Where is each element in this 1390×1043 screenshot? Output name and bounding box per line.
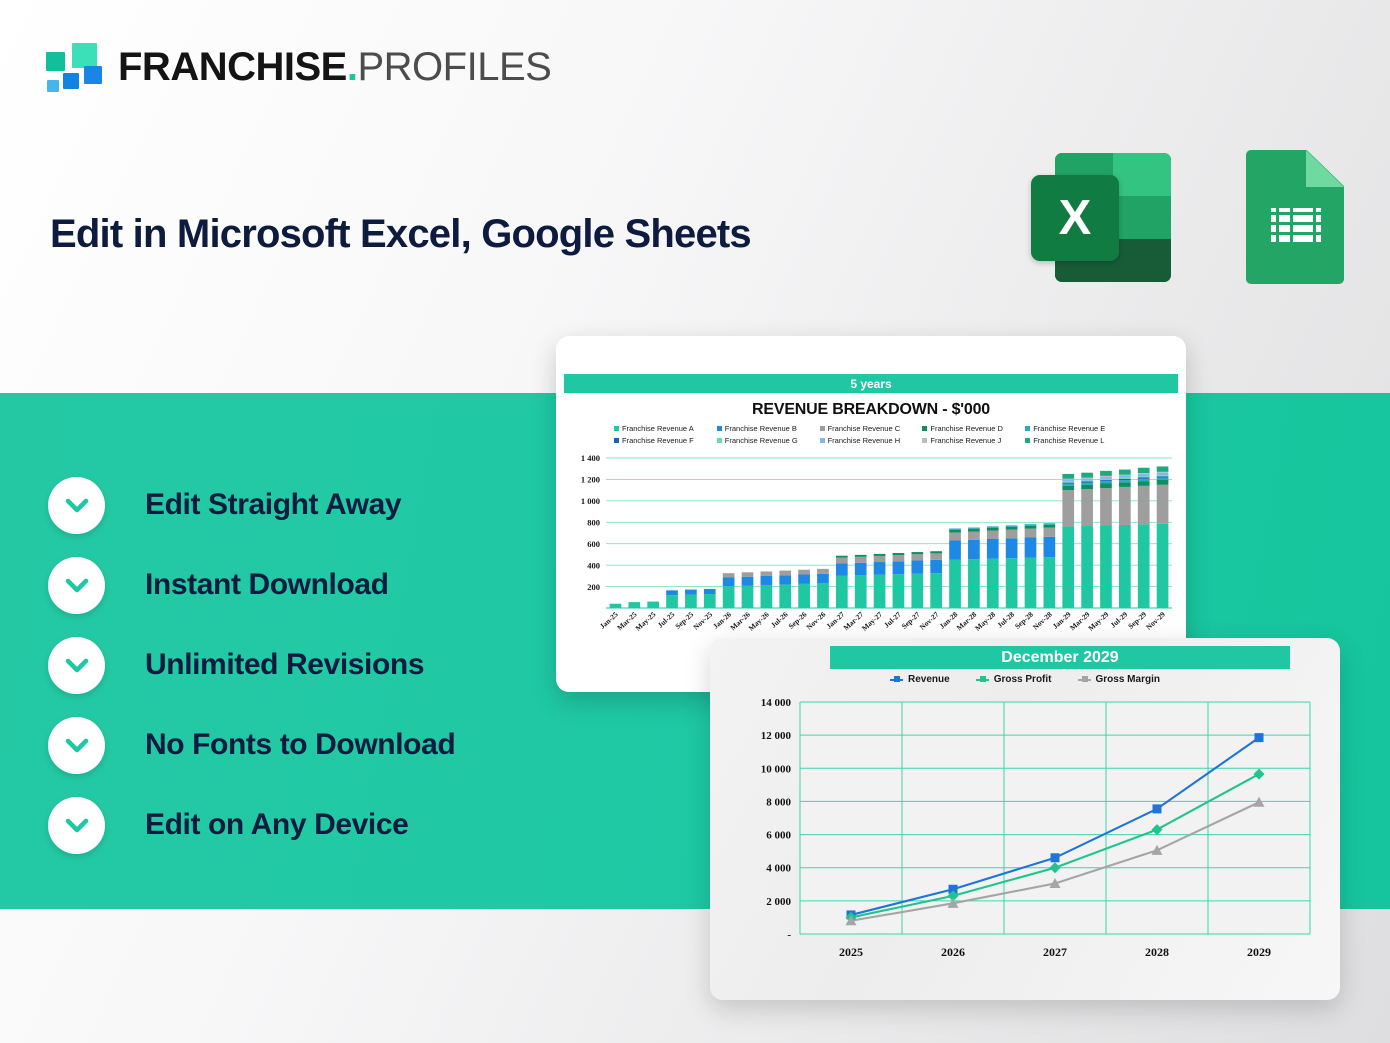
legend-entry[interactable]: Franchise Revenue J bbox=[922, 436, 1025, 445]
legend-label: Franchise Revenue E bbox=[1033, 424, 1105, 433]
bar-chart-title: REVENUE BREAKDOWN - $'000 bbox=[556, 401, 1186, 419]
feature-item-3[interactable]: No Fonts to Download bbox=[48, 705, 568, 785]
legend-entry[interactable]: Franchise Revenue F bbox=[614, 436, 717, 445]
svg-text:Jul-26: Jul-26 bbox=[769, 610, 790, 630]
svg-text:8 000: 8 000 bbox=[766, 796, 791, 808]
feature-label: Edit on Any Device bbox=[145, 808, 408, 842]
svg-text:2029: 2029 bbox=[1247, 945, 1271, 959]
svg-text:Jul-29: Jul-29 bbox=[1108, 610, 1129, 630]
app-icons-group: X bbox=[1031, 150, 1344, 285]
legend-entry[interactable]: Franchise Revenue H bbox=[820, 436, 923, 445]
svg-text:12 000: 12 000 bbox=[761, 730, 792, 742]
legend-entry[interactable]: Franchise Revenue E bbox=[1025, 424, 1128, 433]
svg-text:Sep-29: Sep-29 bbox=[1126, 610, 1148, 631]
feature-item-2[interactable]: Unlimited Revisions bbox=[48, 625, 568, 705]
chevron-down-icon[interactable] bbox=[48, 637, 105, 694]
svg-text:Mar-26: Mar-26 bbox=[728, 610, 752, 633]
svg-text:2 000: 2 000 bbox=[766, 896, 791, 908]
legend-label: Gross Margin bbox=[1096, 674, 1160, 685]
feature-label: Edit Straight Away bbox=[145, 488, 401, 522]
chevron-down-icon[interactable] bbox=[48, 557, 105, 614]
line-chart-legend: RevenueGross ProfitGross Margin bbox=[710, 674, 1340, 685]
svg-text:Sep-27: Sep-27 bbox=[900, 610, 922, 631]
svg-text:Mar-25: Mar-25 bbox=[615, 610, 639, 633]
svg-text:400: 400 bbox=[587, 560, 600, 570]
legend-label: Franchise Revenue F bbox=[622, 436, 694, 445]
brand-wordmark: FRANCHISE.PROFILES bbox=[118, 47, 551, 87]
svg-text:Mar-27: Mar-27 bbox=[842, 610, 866, 633]
svg-text:Nov-29: Nov-29 bbox=[1144, 610, 1167, 632]
svg-text:Jan-26: Jan-26 bbox=[711, 610, 733, 631]
svg-text:May-27: May-27 bbox=[860, 610, 884, 633]
svg-text:600: 600 bbox=[587, 539, 600, 549]
svg-text:Jan-27: Jan-27 bbox=[824, 610, 846, 631]
legend-label: Gross Profit bbox=[994, 674, 1052, 685]
svg-text:2026: 2026 bbox=[941, 945, 965, 959]
svg-text:10 000: 10 000 bbox=[761, 763, 792, 775]
bar-chart-legend: Franchise Revenue AFranchise Revenue BFr… bbox=[614, 424, 1128, 445]
svg-text:Nov-27: Nov-27 bbox=[918, 610, 941, 632]
svg-text:Jul-27: Jul-27 bbox=[882, 610, 903, 630]
line-chart-plot: -2 0004 0006 0008 00010 00012 00014 0002… bbox=[710, 638, 1340, 1000]
svg-text:Jul-28: Jul-28 bbox=[995, 610, 1016, 630]
legend-entry[interactable]: Revenue bbox=[890, 674, 950, 685]
legend-entry[interactable]: Franchise Revenue A bbox=[614, 424, 717, 433]
svg-text:Nov-28: Nov-28 bbox=[1031, 610, 1054, 632]
svg-text:Sep-26: Sep-26 bbox=[787, 610, 809, 631]
svg-text:2028: 2028 bbox=[1145, 945, 1169, 959]
svg-text:14 000: 14 000 bbox=[761, 697, 792, 709]
legend-entry[interactable]: Franchise Revenue C bbox=[820, 424, 923, 433]
feature-item-1[interactable]: Instant Download bbox=[48, 545, 568, 625]
svg-text:200: 200 bbox=[587, 582, 600, 592]
bar-chart-banner: 5 years bbox=[564, 374, 1178, 393]
legend-entry[interactable]: Gross Margin bbox=[1078, 674, 1160, 685]
microsoft-excel-icon: X bbox=[1031, 150, 1171, 285]
legend-label: Franchise Revenue D bbox=[930, 424, 1003, 433]
svg-text:1 000: 1 000 bbox=[581, 496, 600, 506]
feature-item-4[interactable]: Edit on Any Device bbox=[48, 785, 568, 865]
feature-label: No Fonts to Download bbox=[145, 728, 455, 762]
legend-entry[interactable]: Franchise Revenue G bbox=[717, 436, 820, 445]
feature-label: Instant Download bbox=[145, 568, 389, 602]
legend-label: Franchise Revenue C bbox=[828, 424, 901, 433]
legend-label: Franchise Revenue A bbox=[622, 424, 694, 433]
svg-text:Nov-26: Nov-26 bbox=[804, 610, 827, 632]
brand-name-light: PROFILES bbox=[357, 45, 551, 89]
legend-entry[interactable]: Franchise Revenue L bbox=[1025, 436, 1128, 445]
svg-text:Sep-25: Sep-25 bbox=[673, 610, 695, 631]
svg-text:2025: 2025 bbox=[839, 945, 863, 959]
svg-text:6 000: 6 000 bbox=[766, 830, 791, 842]
chevron-down-icon[interactable] bbox=[48, 797, 105, 854]
svg-text:Mar-28: Mar-28 bbox=[955, 610, 979, 633]
svg-text:4 000: 4 000 bbox=[766, 863, 791, 875]
legend-label: Franchise Revenue L bbox=[1033, 436, 1104, 445]
brand-dot: . bbox=[347, 45, 358, 89]
feature-list: Edit Straight AwayInstant DownloadUnlimi… bbox=[48, 465, 568, 865]
svg-text:May-26: May-26 bbox=[747, 610, 771, 633]
legend-entry[interactable]: Gross Profit bbox=[976, 674, 1052, 685]
chevron-down-icon[interactable] bbox=[48, 477, 105, 534]
svg-text:1 400: 1 400 bbox=[581, 453, 600, 463]
svg-text:-: - bbox=[787, 929, 791, 941]
chevron-down-icon[interactable] bbox=[48, 717, 105, 774]
brand-name-bold: FRANCHISE bbox=[118, 45, 347, 89]
google-sheets-icon bbox=[1246, 150, 1344, 284]
svg-text:800: 800 bbox=[587, 517, 600, 527]
excel-x-glyph: X bbox=[1059, 194, 1092, 243]
annual-performance-card[interactable]: December 2029 RevenueGross ProfitGross M… bbox=[710, 638, 1340, 1000]
feature-item-0[interactable]: Edit Straight Away bbox=[48, 465, 568, 545]
legend-label: Franchise Revenue B bbox=[725, 424, 797, 433]
svg-text:Jan-29: Jan-29 bbox=[1051, 610, 1073, 631]
svg-text:Nov-25: Nov-25 bbox=[691, 610, 714, 632]
legend-entry[interactable]: Franchise Revenue D bbox=[922, 424, 1025, 433]
svg-text:May-29: May-29 bbox=[1086, 610, 1110, 633]
page-title: Edit in Microsoft Excel, Google Sheets bbox=[50, 212, 751, 257]
svg-text:Jan-28: Jan-28 bbox=[937, 610, 959, 631]
logo-mark-icon bbox=[46, 42, 102, 92]
legend-label: Franchise Revenue J bbox=[930, 436, 1001, 445]
feature-label: Unlimited Revisions bbox=[145, 648, 424, 682]
brand-logo: FRANCHISE.PROFILES bbox=[46, 42, 551, 92]
svg-text:1 200: 1 200 bbox=[581, 475, 600, 485]
svg-text:2027: 2027 bbox=[1043, 945, 1067, 959]
legend-label: Franchise Revenue G bbox=[725, 436, 798, 445]
svg-text:Jul-25: Jul-25 bbox=[656, 610, 677, 630]
svg-text:Sep-28: Sep-28 bbox=[1013, 610, 1035, 631]
svg-text:May-25: May-25 bbox=[633, 610, 657, 633]
svg-text:Jan-25: Jan-25 bbox=[598, 610, 620, 631]
svg-text:Mar-29: Mar-29 bbox=[1068, 610, 1092, 633]
legend-entry[interactable]: Franchise Revenue B bbox=[717, 424, 820, 433]
line-chart-banner: December 2029 bbox=[830, 646, 1290, 669]
legend-label: Franchise Revenue H bbox=[828, 436, 901, 445]
legend-label: Revenue bbox=[908, 674, 950, 685]
svg-text:May-28: May-28 bbox=[973, 610, 997, 633]
